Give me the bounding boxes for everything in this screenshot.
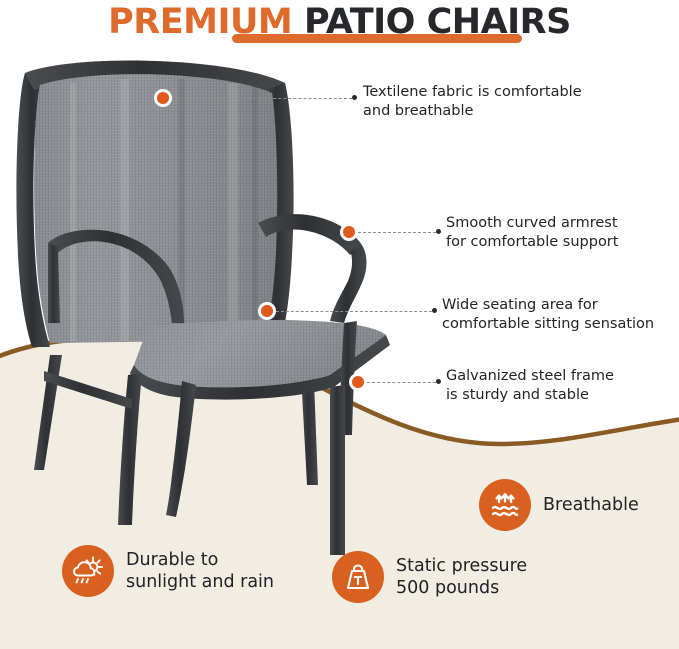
static-pressure-badge-label: Static pressure 500 pounds [396, 555, 527, 599]
callout-text-galvanized-steel-frame: Galvanized steel frame is sturdy and sta… [446, 367, 614, 405]
callout-line2-curved-armrest: for comfortable support [446, 233, 618, 252]
durable-badge-label: Durable to sunlight and rain [126, 549, 274, 593]
callout-line1-galvanized-steel-frame: Galvanized steel frame [446, 367, 614, 386]
breathable-badge-label: Breathable [543, 494, 639, 516]
durable-label-line1: Durable to [126, 549, 274, 571]
feature-badge-durable-sunlight-rain[interactable]: Durable to sunlight and rain [62, 545, 274, 597]
chair-front-leg-right [330, 385, 345, 555]
callout-text-curved-armrest: Smooth curved armrest for comfortable su… [446, 214, 618, 252]
chair-rear-leg-inner [166, 381, 196, 517]
title-text: PREMIUM PATIO CHAIRS [0, 0, 679, 44]
title-part-patio-chairs: PATIO CHAIRS [304, 2, 571, 42]
callout-line-wide-seating-area [276, 311, 432, 312]
breathable-label-line1: Breathable [543, 494, 639, 516]
callout-marker-textilene-fabric[interactable] [154, 89, 172, 107]
callout-marker-wide-seating-area[interactable] [258, 302, 276, 320]
feature-badge-breathable[interactable]: Breathable [479, 479, 639, 531]
chair-side-stretcher [44, 371, 132, 409]
static-pressure-badge-circle [332, 551, 384, 603]
callout-text-textilene-fabric: Textilene fabric is comfortable and brea… [363, 83, 582, 121]
callout-line2-galvanized-steel-frame: is sturdy and stable [446, 386, 614, 405]
callout-line1-textilene-fabric: Textilene fabric is comfortable [363, 83, 582, 102]
breathable-badge-circle [479, 479, 531, 531]
callout-enddot-wide-seating-area [432, 308, 437, 313]
chair-back-leg-left [34, 355, 62, 470]
durable-label-line2: sunlight and rain [126, 571, 274, 593]
static-pressure-label-line2: 500 pounds [396, 577, 527, 599]
sun-cloud-rain-icon [71, 554, 105, 588]
callout-line1-wide-seating-area: Wide seating area for [442, 296, 654, 315]
callout-line-textilene-fabric [172, 98, 352, 99]
callout-enddot-textilene-fabric [352, 95, 357, 100]
callout-line-galvanized-steel-frame [367, 382, 436, 383]
breathable-icon [488, 488, 522, 522]
static-pressure-label-line1: Static pressure [396, 555, 527, 577]
callout-line2-wide-seating-area: comfortable sitting sensation [442, 315, 654, 334]
title-part-premium: PREMIUM [108, 2, 292, 42]
callout-line-curved-armrest [358, 232, 436, 233]
chair-armrest-left-support [48, 243, 60, 323]
callout-line2-textilene-fabric: and breathable [363, 102, 582, 121]
callout-marker-curved-armrest[interactable] [340, 223, 358, 241]
callout-enddot-galvanized-steel-frame [436, 379, 441, 384]
callout-text-wide-seating-area: Wide seating area for comfortable sittin… [442, 296, 654, 334]
feature-badge-static-pressure[interactable]: Static pressure 500 pounds [332, 551, 527, 603]
weight-icon [341, 560, 375, 594]
callout-enddot-curved-armrest [436, 229, 441, 234]
callout-line1-curved-armrest: Smooth curved armrest [446, 214, 618, 233]
callout-marker-galvanized-steel-frame[interactable] [349, 373, 367, 391]
infographic-root: PREMIUM PATIO CHAIRS [0, 0, 679, 649]
page-title: PREMIUM PATIO CHAIRS [0, 0, 679, 52]
durable-badge-circle [62, 545, 114, 597]
patio-chair-illustration [0, 55, 440, 615]
